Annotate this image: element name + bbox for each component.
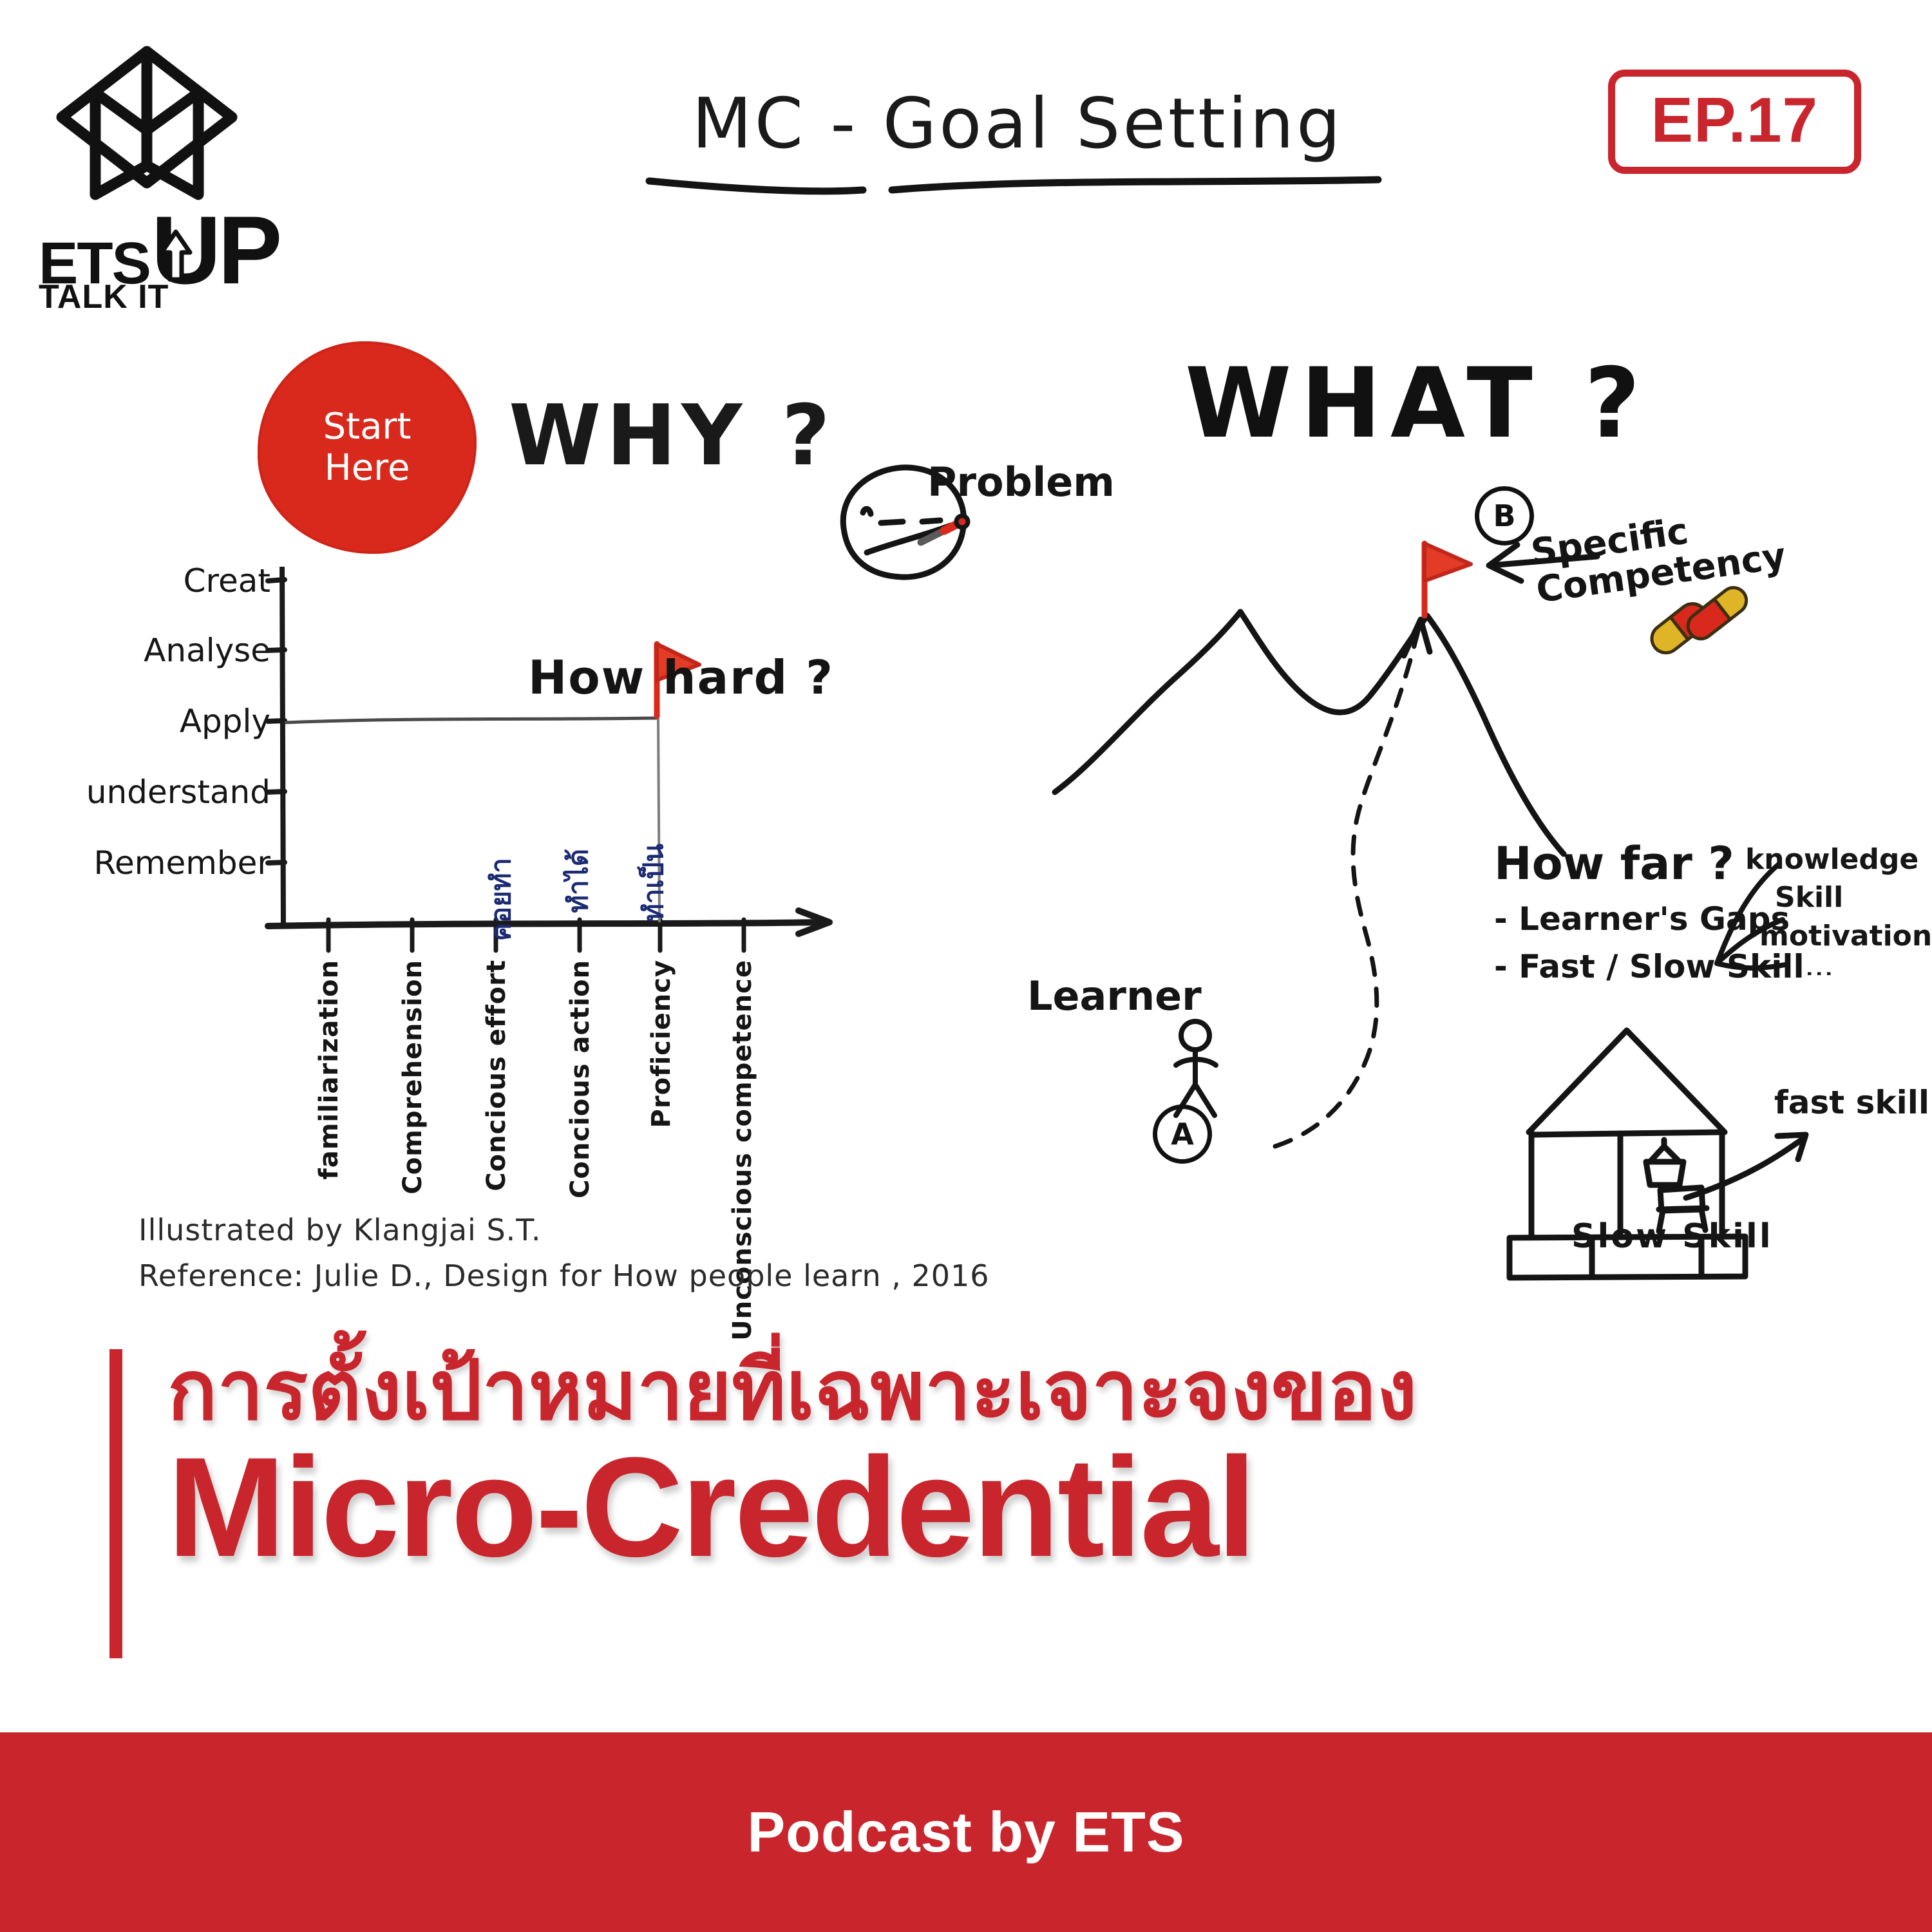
thai-stage-1: ทำได้ xyxy=(557,849,600,913)
why-heading: WHY ? xyxy=(509,386,835,484)
gaps-item-1: Skill xyxy=(1775,878,1932,916)
x-tick-1: Comprehension xyxy=(398,960,428,1195)
start-here-line1: Start xyxy=(323,406,412,448)
wordmark-up: UP xyxy=(151,213,279,288)
footer-text: Podcast by ETS xyxy=(747,1799,1184,1865)
slow-skill-label: Slow Skill xyxy=(1571,1217,1773,1256)
learning-progression-chart: Creat Analyse Apply understand Remember xyxy=(77,567,927,1018)
learner-label: Learner xyxy=(1027,972,1202,1019)
x-tick-0: familiarization xyxy=(314,960,344,1180)
chart-axes-and-series xyxy=(77,567,927,1018)
episode-badge-label: EP.17 xyxy=(1651,84,1818,155)
marker-a: A xyxy=(1153,1104,1212,1164)
podcast-cover: ETS UP TALK IT MC - Goal Setting EP.17 S… xyxy=(0,0,1932,1932)
fast-skill-label: fast skill xyxy=(1774,1085,1929,1121)
summit-flag-icon xyxy=(1425,544,1471,616)
page-title-text: MC - Goal Setting xyxy=(692,84,1343,164)
page-title: MC - Goal Setting xyxy=(638,84,1397,206)
thai-stage-2: ทำเป็น xyxy=(632,844,675,922)
credits-block: Illustrated by Klangjai S.T. Reference: … xyxy=(138,1207,990,1300)
thai-stage-0: คอยทำ xyxy=(480,858,522,941)
gaps-item-2: motivation xyxy=(1759,917,1932,955)
start-here-line2: Here xyxy=(325,448,410,489)
etsup-wordmark: ETS UP TALK IT xyxy=(39,213,245,311)
what-heading: WHAT ? xyxy=(1185,348,1649,460)
x-tick-2: Concious effort xyxy=(482,960,511,1191)
gaps-branch-list: knowledge Skill motivation xyxy=(1745,840,1932,955)
credit-reference: Reference: Julie D., Design for How peop… xyxy=(138,1253,990,1299)
capsule-pills-icon xyxy=(1636,583,1752,667)
x-tick-3: Concious action xyxy=(565,960,595,1198)
episode-badge: EP.17 xyxy=(1608,70,1861,174)
problem-label: Problem xyxy=(927,459,1115,506)
title-underline xyxy=(638,164,1397,203)
start-here-badge: Start Here xyxy=(258,341,477,554)
gaps-more-dots: ⋮ xyxy=(1803,960,1836,988)
episode-title-thai: การตั้งเป้าหมายที่เฉพาะเจาะจงของ xyxy=(167,1346,1842,1437)
gaps-item-0: knowledge xyxy=(1745,840,1932,878)
x-tick-4: Proficiency xyxy=(647,960,676,1128)
episode-title-block: การตั้งเป้าหมายที่เฉพาะเจาะจงของ Micro-C… xyxy=(109,1346,1842,1582)
episode-title-en: Micro-Credential xyxy=(167,1433,1842,1582)
up-arrow-icon xyxy=(156,228,195,282)
credit-illustrator: Illustrated by Klangjai S.T. xyxy=(138,1207,990,1253)
how-hard-label: How hard ? xyxy=(528,650,834,705)
footer-bar: Podcast by ETS xyxy=(0,1732,1932,1932)
